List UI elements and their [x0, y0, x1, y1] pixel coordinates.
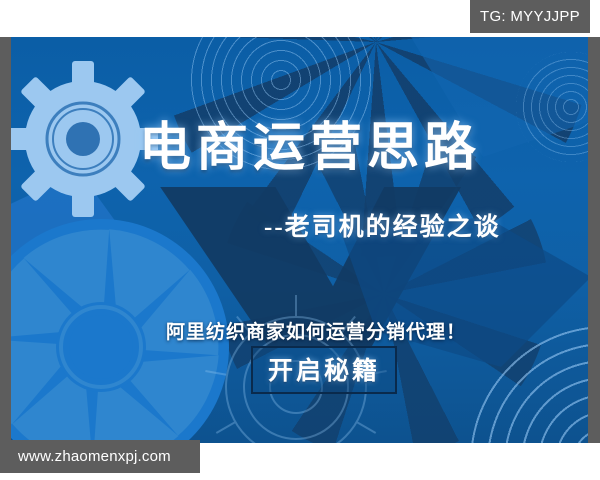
poster-right-edge-strip: [588, 37, 600, 443]
poster-left-edge-strip: [0, 37, 11, 443]
gear-icon: [11, 59, 158, 219]
promo-poster: 电商运营思路 --老司机的经验之谈 阿里纺织商家如何运营分销代理！ 开启秘籍: [11, 37, 588, 443]
poster-subtitle: --老司机的经验之谈: [264, 207, 501, 243]
poster-tagline: 阿里纺织商家如何运营分销代理！: [166, 317, 466, 344]
poster-title: 电商运营思路: [139, 123, 499, 175]
site-watermark: www.zhaomenxpj.com: [0, 440, 200, 473]
open-secrets-button[interactable]: 开启秘籍: [251, 346, 397, 394]
telegram-handle-badge: TG: MYYJJPP: [470, 0, 590, 33]
